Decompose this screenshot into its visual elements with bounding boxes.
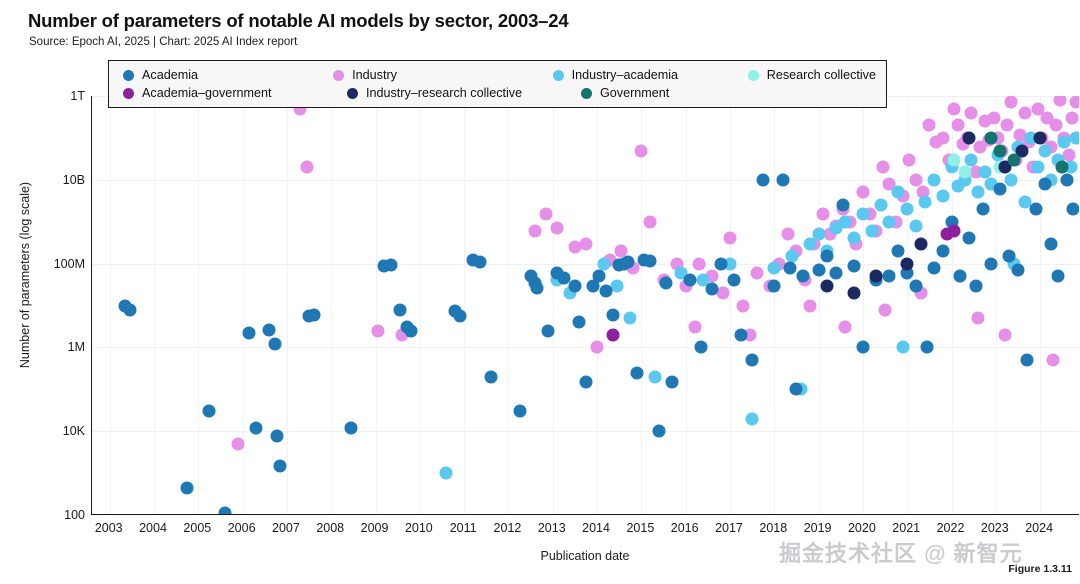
- scatter-point[interactable]: [910, 173, 923, 186]
- gridline-vertical: [553, 96, 554, 514]
- scatter-point[interactable]: [746, 354, 759, 367]
- scatter-point[interactable]: [777, 173, 790, 186]
- scatter-point[interactable]: [706, 282, 719, 295]
- scatter-point[interactable]: [599, 285, 612, 298]
- scatter-point[interactable]: [1020, 354, 1033, 367]
- scatter-point[interactable]: [648, 370, 661, 383]
- scatter-point[interactable]: [985, 257, 998, 270]
- legend-swatch-icon: [123, 70, 134, 81]
- scatter-point[interactable]: [876, 161, 889, 174]
- scatter-point[interactable]: [892, 186, 905, 199]
- scatter-point[interactable]: [123, 303, 136, 316]
- scatter-point[interactable]: [936, 131, 949, 144]
- scatter-point[interactable]: [580, 237, 593, 250]
- scatter-point[interactable]: [1054, 96, 1067, 107]
- scatter-point[interactable]: [735, 328, 748, 341]
- scatter-point[interactable]: [856, 186, 869, 199]
- scatter-point[interactable]: [644, 255, 657, 268]
- legend-label: Research collective: [767, 68, 876, 82]
- scatter-point[interactable]: [540, 208, 553, 221]
- scatter-point[interactable]: [1031, 161, 1044, 174]
- scatter-point[interactable]: [927, 173, 940, 186]
- scatter-point[interactable]: [952, 119, 965, 132]
- scatter-point[interactable]: [963, 232, 976, 245]
- gridline-vertical: [686, 96, 687, 514]
- scatter-point[interactable]: [453, 310, 466, 323]
- scatter-point[interactable]: [797, 270, 810, 283]
- scatter-point[interactable]: [848, 259, 861, 272]
- scatter-point[interactable]: [954, 270, 967, 283]
- scatter-point[interactable]: [1047, 354, 1060, 367]
- legend-label: Industry–research collective: [366, 86, 522, 100]
- scatter-point[interactable]: [1005, 96, 1018, 109]
- scatter-point[interactable]: [624, 312, 637, 325]
- x-tick-label: 2017: [715, 521, 743, 535]
- scatter-point[interactable]: [821, 250, 834, 263]
- legend-swatch-icon: [581, 88, 592, 99]
- legend-swatch-icon: [553, 70, 564, 81]
- scatter-point[interactable]: [635, 144, 648, 157]
- scatter-point[interactable]: [1049, 119, 1062, 132]
- scatter-point[interactable]: [232, 437, 245, 450]
- scatter-point[interactable]: [848, 286, 861, 299]
- scatter-point[interactable]: [473, 255, 486, 268]
- scatter-point[interactable]: [268, 338, 281, 351]
- scatter-point[interactable]: [243, 327, 256, 340]
- scatter-point[interactable]: [879, 303, 892, 316]
- gridline-vertical: [110, 96, 111, 514]
- scatter-point[interactable]: [972, 186, 985, 199]
- scatter-point[interactable]: [593, 270, 606, 283]
- scatter-point[interactable]: [531, 282, 544, 295]
- gridline-vertical: [376, 96, 377, 514]
- x-tick-label: 2011: [450, 521, 477, 535]
- scatter-point[interactable]: [385, 258, 398, 271]
- scatter-point[interactable]: [666, 375, 679, 388]
- scatter-point[interactable]: [611, 279, 624, 292]
- scatter-point[interactable]: [1062, 148, 1075, 161]
- scatter-point[interactable]: [947, 102, 960, 115]
- x-tick-label: 2023: [981, 521, 1009, 535]
- plot-frame: [91, 96, 1079, 515]
- scatter-point[interactable]: [947, 153, 960, 166]
- gridline-vertical: [641, 96, 642, 514]
- gridline-vertical: [730, 96, 731, 514]
- scatter-point[interactable]: [874, 199, 887, 212]
- scatter-point[interactable]: [901, 257, 914, 270]
- x-tick-label: 2019: [804, 521, 832, 535]
- scatter-point[interactable]: [218, 507, 231, 514]
- legend-label: Government: [600, 86, 669, 100]
- legend-item-government[interactable]: Government: [581, 86, 789, 100]
- x-tick-label: 2018: [759, 521, 787, 535]
- scatter-point[interactable]: [836, 199, 849, 212]
- scatter-point[interactable]: [923, 119, 936, 132]
- scatter-point[interactable]: [529, 224, 542, 237]
- scatter-point[interactable]: [998, 328, 1011, 341]
- gridline-vertical: [819, 96, 820, 514]
- legend-label: Industry: [352, 68, 397, 82]
- x-axis-tick-labels: 2003200420052006200720082009201020112012…: [91, 521, 1079, 539]
- scatter-point[interactable]: [271, 430, 284, 443]
- page-title: Number of parameters of notable AI model…: [28, 10, 568, 32]
- scatter-point[interactable]: [1007, 153, 1020, 166]
- x-tick-label: 2006: [228, 521, 256, 535]
- y-tick-label: 1T: [70, 89, 85, 103]
- scatter-point[interactable]: [345, 421, 358, 434]
- x-tick-label: 2015: [626, 521, 654, 535]
- x-tick-label: 2005: [183, 521, 211, 535]
- scatter-point[interactable]: [568, 279, 581, 292]
- scatter-point[interactable]: [1069, 96, 1079, 109]
- x-tick-label: 2008: [316, 521, 344, 535]
- scatter-point[interactable]: [746, 412, 759, 425]
- y-tick-label: 1M: [68, 340, 85, 354]
- scatter-point[interactable]: [591, 341, 604, 354]
- scatter-point[interactable]: [393, 303, 406, 316]
- scatter-point[interactable]: [865, 224, 878, 237]
- scatter-point[interactable]: [903, 153, 916, 166]
- x-tick-label: 2016: [671, 521, 699, 535]
- y-tick-label: 10B: [63, 173, 85, 187]
- scatter-point[interactable]: [750, 266, 763, 279]
- scatter-point[interactable]: [300, 161, 313, 174]
- legend-row: Academia–governmentIndustry–research col…: [123, 86, 876, 100]
- gridline-vertical: [597, 96, 598, 514]
- scatter-point[interactable]: [659, 276, 672, 289]
- scatter-point[interactable]: [914, 237, 927, 250]
- scatter-point[interactable]: [910, 219, 923, 232]
- x-tick-label: 2007: [272, 521, 300, 535]
- gridline-vertical: [331, 96, 332, 514]
- scatter-point[interactable]: [965, 106, 978, 119]
- scatter-point[interactable]: [927, 261, 940, 274]
- y-tick-label: 100M: [54, 257, 85, 271]
- scatter-point[interactable]: [717, 286, 730, 299]
- x-tick-label: 2004: [139, 521, 167, 535]
- scatter-point[interactable]: [203, 405, 216, 418]
- legend-row: AcademiaIndustryIndustry–academiaResearc…: [123, 68, 876, 82]
- scatter-point[interactable]: [597, 257, 610, 270]
- legend-item-research-collective[interactable]: Research collective: [748, 68, 876, 82]
- scatter-point[interactable]: [1060, 173, 1073, 186]
- x-tick-label: 2022: [937, 521, 965, 535]
- scatter-point[interactable]: [918, 195, 931, 208]
- x-tick-label: 2014: [582, 521, 610, 535]
- scatter-point[interactable]: [606, 328, 619, 341]
- scatter-point[interactable]: [1000, 119, 1013, 132]
- legend-label: Academia–government: [142, 86, 272, 100]
- scatter-point[interactable]: [821, 279, 834, 292]
- scatter-point[interactable]: [839, 321, 852, 334]
- scatter-point[interactable]: [737, 299, 750, 312]
- scatter-point[interactable]: [274, 459, 287, 472]
- legend-item-industry-research-collective[interactable]: Industry–research collective: [347, 86, 581, 100]
- scatter-point[interactable]: [1056, 161, 1069, 174]
- scatter-point[interactable]: [812, 264, 825, 277]
- scatter-point[interactable]: [965, 153, 978, 166]
- scatter-point[interactable]: [1051, 270, 1064, 283]
- scatter-point[interactable]: [1005, 173, 1018, 186]
- scatter-point[interactable]: [972, 312, 985, 325]
- legend-label: Industry–academia: [572, 68, 678, 82]
- x-tick-label: 2021: [892, 521, 920, 535]
- x-tick-label: 2024: [1025, 521, 1053, 535]
- scatter-point[interactable]: [768, 261, 781, 274]
- chart-legend: AcademiaIndustryIndustry–academiaResearc…: [108, 60, 887, 108]
- x-tick-label: 2009: [361, 521, 389, 535]
- scatter-point[interactable]: [987, 111, 1000, 124]
- legend-item-industry[interactable]: Industry: [333, 68, 553, 82]
- scatter-point[interactable]: [1018, 106, 1031, 119]
- scatter-point[interactable]: [994, 144, 1007, 157]
- gridline-vertical: [464, 96, 465, 514]
- scatter-point[interactable]: [976, 203, 989, 216]
- y-tick-label: 100: [64, 508, 85, 522]
- chart-source-subtitle: Source: Epoch AI, 2025 | Chart: 2025 AI …: [29, 36, 297, 48]
- scatter-point[interactable]: [910, 279, 923, 292]
- scatter-point[interactable]: [263, 324, 276, 337]
- gridline-horizontal: [92, 431, 1079, 432]
- gridline-vertical: [243, 96, 244, 514]
- scatter-point[interactable]: [684, 274, 697, 287]
- x-tick-label: 2013: [538, 521, 566, 535]
- scatter-point[interactable]: [371, 324, 384, 337]
- scatter-point[interactable]: [1003, 250, 1016, 263]
- scatter-point[interactable]: [630, 366, 643, 379]
- scatter-point[interactable]: [715, 257, 728, 270]
- x-axis-title: Publication date: [91, 549, 1079, 563]
- scatter-point[interactable]: [484, 370, 497, 383]
- scatter-point[interactable]: [688, 321, 701, 334]
- x-tick-label: 2012: [494, 521, 522, 535]
- scatter-point[interactable]: [856, 208, 869, 221]
- scatter-point[interactable]: [892, 244, 905, 257]
- legend-item-academia-government[interactable]: Academia–government: [123, 86, 347, 100]
- scatter-point[interactable]: [921, 341, 934, 354]
- scatter-point[interactable]: [870, 270, 883, 283]
- gridline-vertical: [774, 96, 775, 514]
- scatter-point[interactable]: [1029, 203, 1042, 216]
- scatter-point[interactable]: [1011, 264, 1024, 277]
- gridline-vertical: [508, 96, 509, 514]
- scatter-point[interactable]: [440, 467, 453, 480]
- scatter-point[interactable]: [985, 131, 998, 144]
- scatter-point[interactable]: [803, 299, 816, 312]
- scatter-point[interactable]: [958, 166, 971, 179]
- scatter-point[interactable]: [1034, 131, 1047, 144]
- scatter-point[interactable]: [653, 425, 666, 438]
- scatter-point[interactable]: [573, 316, 586, 329]
- scatter-point[interactable]: [812, 228, 825, 241]
- x-tick-label: 2020: [848, 521, 876, 535]
- gridline-vertical: [154, 96, 155, 514]
- scatter-point[interactable]: [1038, 144, 1051, 157]
- scatter-point[interactable]: [622, 255, 635, 268]
- scatter-point[interactable]: [896, 341, 909, 354]
- scatter-point[interactable]: [883, 270, 896, 283]
- scatter-point[interactable]: [883, 215, 896, 228]
- scatter-point[interactable]: [830, 266, 843, 279]
- scatter-point[interactable]: [1066, 111, 1079, 124]
- scatter-point[interactable]: [1067, 203, 1079, 216]
- legend-label: Academia: [142, 68, 198, 82]
- scatter-point[interactable]: [307, 308, 320, 321]
- x-tick-label: 2010: [405, 521, 433, 535]
- legend-swatch-icon: [748, 70, 759, 81]
- figure-number-label: Figure 1.3.11: [1008, 563, 1072, 575]
- gridline-vertical: [1040, 96, 1041, 514]
- scatter-point[interactable]: [606, 308, 619, 321]
- gridline-vertical: [863, 96, 864, 514]
- scatter-point[interactable]: [404, 324, 417, 337]
- gridline-vertical: [198, 96, 199, 514]
- scatter-point[interactable]: [723, 232, 736, 245]
- scatter-point[interactable]: [839, 215, 852, 228]
- scatter-point[interactable]: [692, 257, 705, 270]
- scatter-point[interactable]: [856, 341, 869, 354]
- legend-item-industry-academia[interactable]: Industry–academia: [553, 68, 748, 82]
- scatter-point[interactable]: [941, 228, 954, 241]
- scatter-point[interactable]: [181, 481, 194, 494]
- x-tick-label: 2003: [95, 521, 123, 535]
- scatter-point[interactable]: [249, 421, 262, 434]
- scatter-point[interactable]: [783, 261, 796, 274]
- legend-item-academia[interactable]: Academia: [123, 68, 333, 82]
- scatter-point[interactable]: [542, 324, 555, 337]
- scatter-point[interactable]: [781, 228, 794, 241]
- scatter-point[interactable]: [757, 173, 770, 186]
- scatter-point[interactable]: [790, 383, 803, 396]
- scatter-point[interactable]: [817, 208, 830, 221]
- legend-swatch-icon: [123, 88, 134, 99]
- y-tick-label: 10K: [63, 424, 85, 438]
- y-axis-tick-labels: 10010K1M100M10B1T: [0, 96, 85, 515]
- gridline-vertical: [287, 96, 288, 514]
- scatter-point[interactable]: [901, 203, 914, 216]
- legend-swatch-icon: [333, 70, 344, 81]
- scatter-point[interactable]: [848, 232, 861, 245]
- scatter-point[interactable]: [963, 131, 976, 144]
- scatter-point[interactable]: [551, 222, 564, 235]
- y-axis-title: Number of parameters (log scale): [18, 95, 32, 455]
- scatter-point[interactable]: [695, 341, 708, 354]
- scatter-point[interactable]: [994, 183, 1007, 196]
- gridline-vertical: [420, 96, 421, 514]
- scatter-point[interactable]: [513, 405, 526, 418]
- scatter-point[interactable]: [644, 215, 657, 228]
- scatter-point[interactable]: [969, 279, 982, 292]
- scatter-point[interactable]: [1038, 177, 1051, 190]
- legend-swatch-icon: [347, 88, 358, 99]
- scatter-plot-area[interactable]: [92, 96, 1079, 514]
- scatter-point[interactable]: [1045, 237, 1058, 250]
- scatter-point[interactable]: [936, 190, 949, 203]
- scatter-point[interactable]: [936, 244, 949, 257]
- scatter-point[interactable]: [1070, 131, 1079, 144]
- scatter-point[interactable]: [728, 274, 741, 287]
- scatter-point[interactable]: [768, 279, 781, 292]
- scatter-point[interactable]: [580, 375, 593, 388]
